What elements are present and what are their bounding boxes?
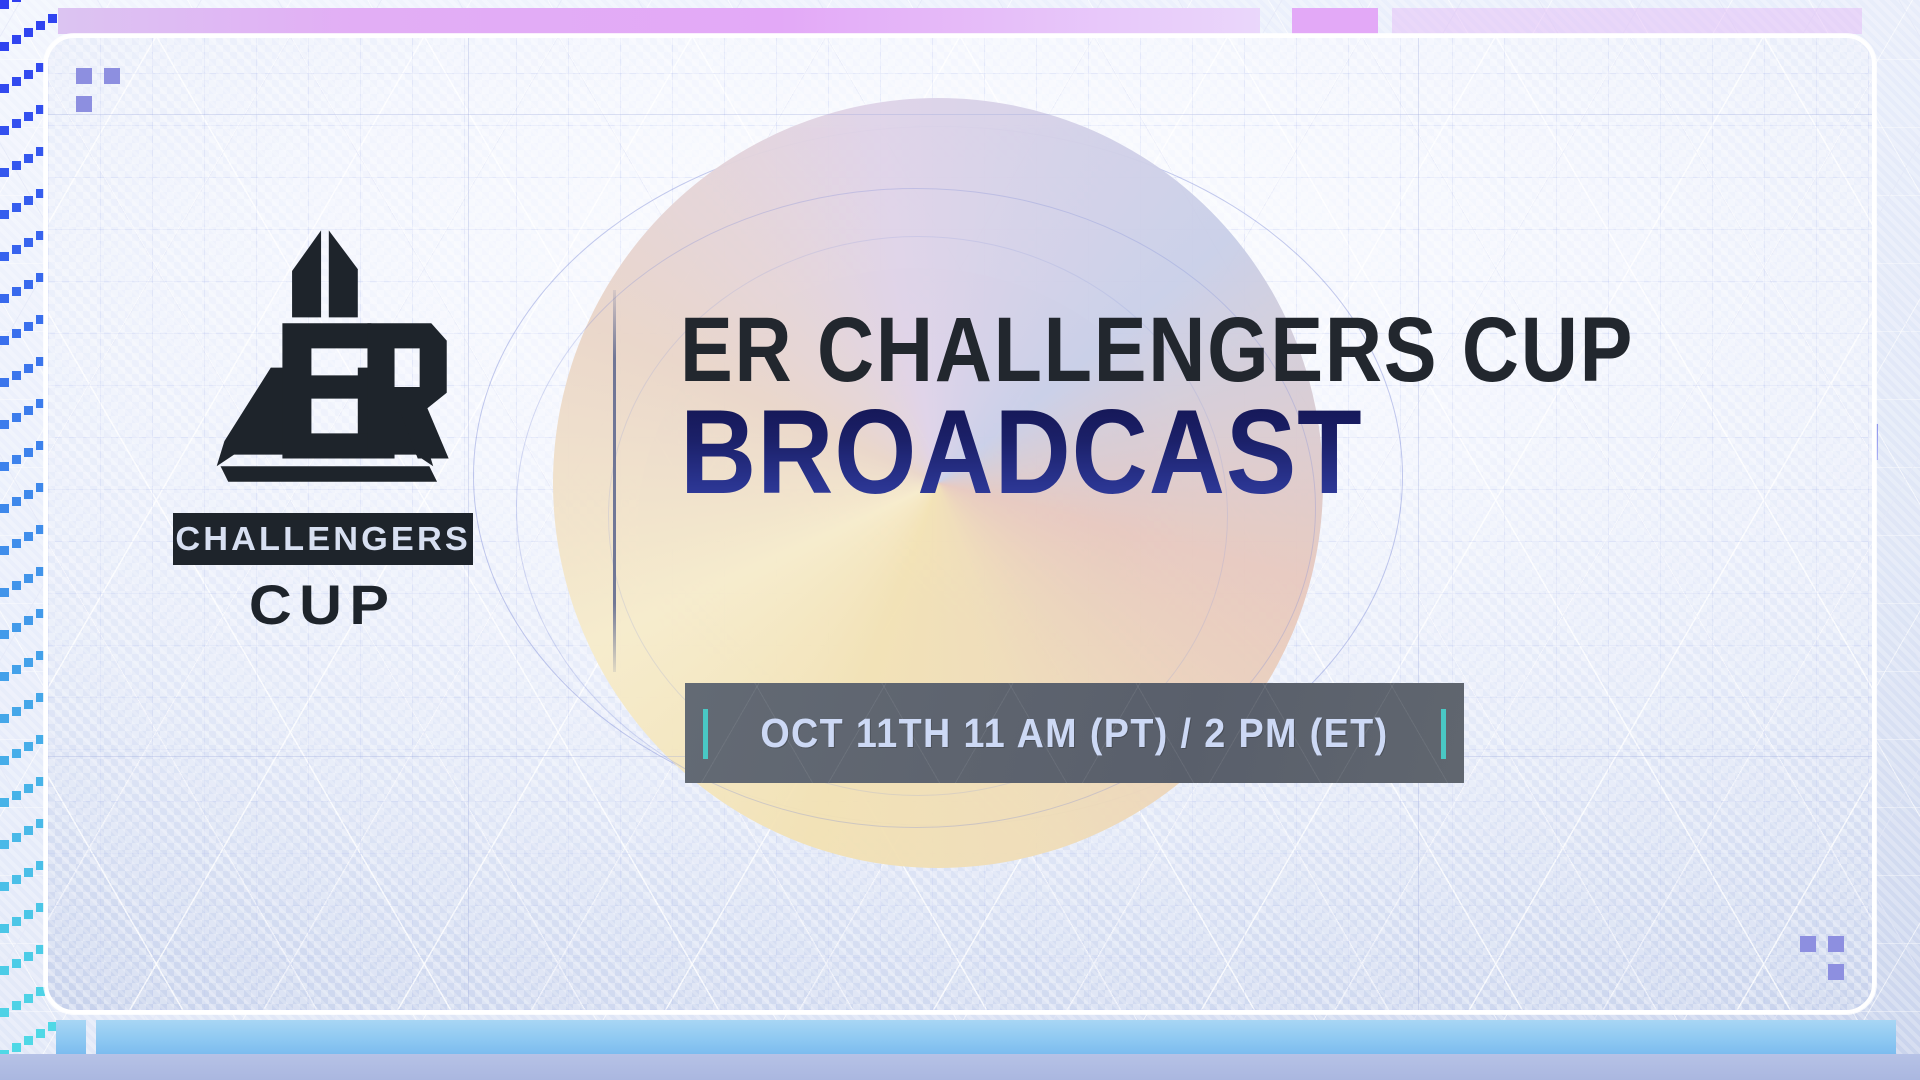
headline-block: ER CHALLENGERS CUP BROADCAST [680,306,1789,509]
top-accent-bar-right [1392,8,1862,34]
vertical-divider [613,290,616,672]
bottom-accent-bar-segment [56,1020,86,1054]
broadcast-announcement-poster: CHALLENGERS CUP ER CHALLENGERS CUP BROAD… [0,0,1920,1080]
top-accent-bar-left [58,8,1260,34]
bottom-accent-bar-group [0,1020,1920,1054]
bottom-accent-bar-main [96,1020,1896,1054]
top-accent-bar-middle [1292,8,1378,34]
bottom-edge-strip [0,1054,1920,1080]
challengers-wordmark-bar: CHALLENGERS [173,513,473,565]
er-challengers-cup-emblem-icon [178,213,468,503]
banner-accent-right [1441,709,1446,759]
pixel-dot-row [0,0,57,9]
inner-rounded-frame: CHALLENGERS CUP ER CHALLENGERS CUP BROAD… [44,34,1876,1014]
event-title: ER CHALLENGERS CUP [680,306,1634,394]
broadcast-title: BROADCAST [680,396,1656,509]
schedule-banner: OCT 11TH 11 AM (PT) / 2 PM (ET) [685,683,1464,783]
poster-content: CHALLENGERS CUP ER CHALLENGERS CUP BROAD… [48,38,1872,1010]
challengers-label: CHALLENGERS [175,522,471,555]
banner-accent-left [703,709,708,759]
brand-logo-lockup: CHALLENGERS CUP [153,213,493,633]
cup-label: CUP [249,577,397,633]
schedule-text: OCT 11TH 11 AM (PT) / 2 PM (ET) [760,710,1388,757]
